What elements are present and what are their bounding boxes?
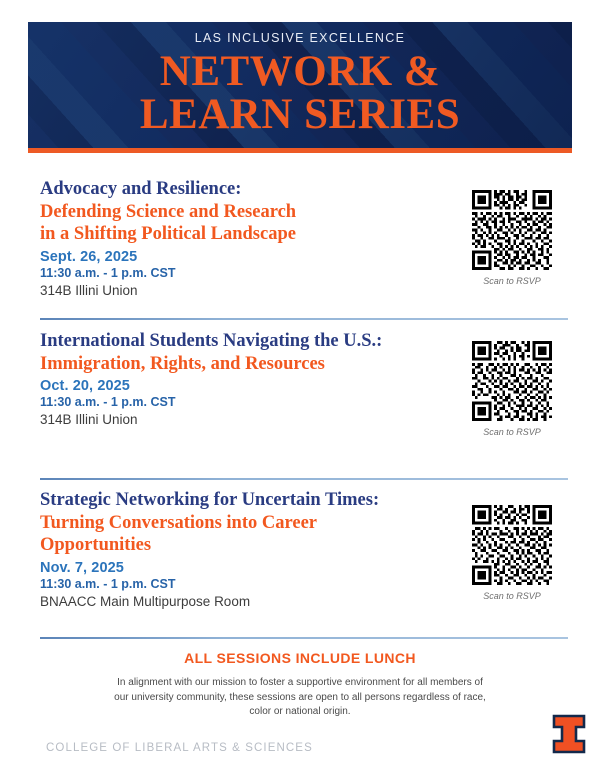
rsvp-qr-block[interactable]: Scan to RSVP <box>452 190 572 286</box>
section-divider <box>40 478 568 480</box>
footer-divider <box>40 637 568 639</box>
event-title-secondary-line-1: Immigration, Rights, and Resources <box>40 353 460 376</box>
rsvp-qr-block[interactable]: Scan to RSVP <box>452 505 572 601</box>
event-date: Oct. 20, 2025 <box>40 378 460 394</box>
event-title-secondary-line-2: in a Shifting Political Landscape <box>40 223 440 246</box>
event-time: 11:30 a.m. - 1 p.m. CST <box>40 395 460 409</box>
header-banner: LAS INCLUSIVE EXCELLENCE NETWORK & LEARN… <box>28 22 572 153</box>
event-time: 11:30 a.m. - 1 p.m. CST <box>40 266 440 280</box>
event-title-primary: Advocacy and Resilience: <box>40 178 440 201</box>
event-title-secondary-line-1: Turning Conversations into Career <box>40 512 440 535</box>
qr-code-icon[interactable] <box>472 505 552 585</box>
banner-title: NETWORK & LEARN SERIES <box>140 51 460 136</box>
event-details: International Students Navigating the U.… <box>40 330 460 427</box>
event-date: Nov. 7, 2025 <box>40 560 440 576</box>
qr-code-icon[interactable] <box>472 190 552 270</box>
college-name: COLLEGE OF LIBERAL ARTS & SCIENCES <box>46 742 313 754</box>
event-details: Advocacy and Resilience: Defending Scien… <box>40 178 440 298</box>
event-location: BNAACC Main Multipurpose Room <box>40 594 440 609</box>
qr-caption: Scan to RSVP <box>452 591 572 601</box>
event-title-secondary-line-1: Defending Science and Research <box>40 201 440 224</box>
event-date: Sept. 26, 2025 <box>40 249 440 265</box>
banner-kicker: LAS INCLUSIVE EXCELLENCE <box>195 31 405 45</box>
event-location: 314B Illini Union <box>40 283 440 298</box>
section-divider <box>40 318 568 320</box>
event-title-primary: International Students Navigating the U.… <box>40 330 460 353</box>
nondiscrimination-disclaimer: In alignment with our mission to foster … <box>110 676 490 720</box>
qr-caption: Scan to RSVP <box>452 276 572 286</box>
event-location: 314B Illini Union <box>40 412 460 427</box>
qr-code-icon[interactable] <box>472 341 552 421</box>
banner-title-line-2: LEARN SERIES <box>140 94 460 137</box>
event-title-primary: Strategic Networking for Uncertain Times… <box>40 489 440 512</box>
banner-orange-rule <box>28 148 572 153</box>
banner-title-line-1: NETWORK & <box>140 51 460 94</box>
poster-canvas: LAS INCLUSIVE EXCELLENCE NETWORK & LEARN… <box>0 0 600 783</box>
qr-caption: Scan to RSVP <box>452 427 572 437</box>
event-title-secondary-line-2: Opportunities <box>40 534 440 557</box>
illinois-block-i-logo <box>552 714 586 754</box>
rsvp-qr-block[interactable]: Scan to RSVP <box>452 341 572 437</box>
event-details: Strategic Networking for Uncertain Times… <box>40 489 440 609</box>
event-time: 11:30 a.m. - 1 p.m. CST <box>40 577 440 591</box>
lunch-note: ALL SESSIONS INCLUDE LUNCH <box>0 650 600 666</box>
